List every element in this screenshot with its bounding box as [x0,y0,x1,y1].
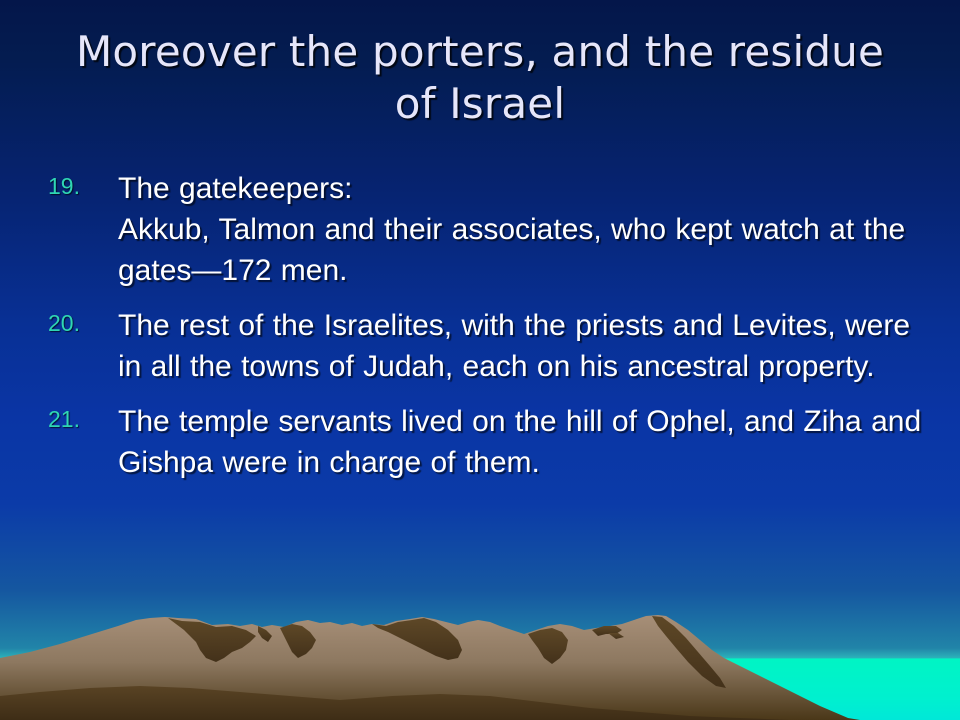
list-item-text: The gatekeepers: Akkub, Talmon and their… [118,172,905,287]
presentation-slide: Moreover the porters, and the residue of… [0,0,960,720]
list-item-number: 21. [48,405,80,433]
list-item: 20. The rest of the Israelites, with the… [44,305,924,387]
list-item: 19. The gatekeepers: Akkub, Talmon and t… [44,168,924,291]
slide-title: Moreover the porters, and the residue of… [40,26,920,130]
mountain-landscape-decoration [0,600,960,720]
list-item: 21. The temple servants lived on the hil… [44,401,924,483]
list-item-text: The rest of the Israelites, with the pri… [118,309,910,383]
list-item-text: The temple servants lived on the hill of… [118,405,921,479]
list-item-number: 20. [48,309,80,337]
list-item-number: 19. [48,172,80,200]
slide-body: 19. The gatekeepers: Akkub, Talmon and t… [44,168,924,497]
